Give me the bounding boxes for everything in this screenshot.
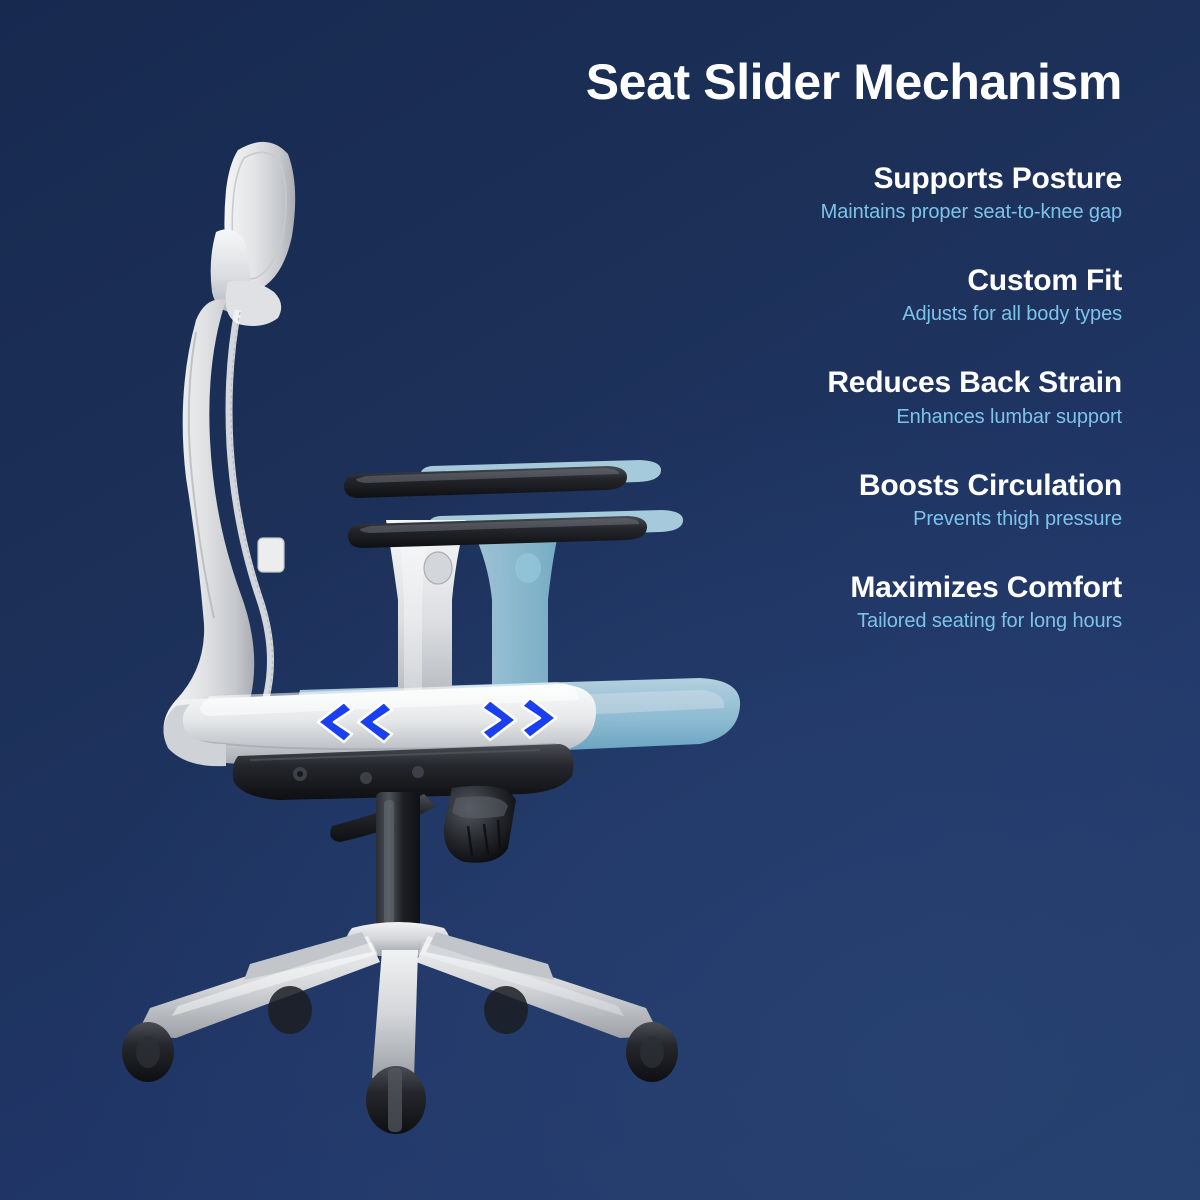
feature-item-maximizes-comfort: Maximizes Comfort Tailored seating for l… (442, 570, 1122, 634)
feature-text-panel: Seat Slider Mechanism Supports Posture M… (442, 56, 1122, 634)
feature-subtitle: Prevents thigh pressure (442, 506, 1122, 532)
feature-item-custom-fit: Custom Fit Adjusts for all body types (442, 263, 1122, 327)
feature-title: Supports Posture (442, 161, 1122, 196)
feature-title: Boosts Circulation (442, 468, 1122, 503)
infographic-canvas: Seat Slider Mechanism Supports Posture M… (0, 0, 1200, 1200)
lumbar-support[interactable] (258, 538, 284, 572)
feature-item-reduces-back-strain: Reduces Back Strain Enhances lumbar supp… (442, 365, 1122, 429)
feature-title: Custom Fit (442, 263, 1122, 298)
feature-subtitle: Maintains proper seat-to-knee gap (442, 199, 1122, 225)
feature-title: Reduces Back Strain (442, 365, 1122, 400)
headrest (211, 142, 296, 326)
gas-cylinder (376, 792, 420, 932)
backrest-frame (164, 299, 273, 755)
feature-subtitle: Adjusts for all body types (442, 301, 1122, 327)
tension-knob[interactable] (444, 786, 516, 863)
feature-subtitle: Enhances lumbar support (442, 404, 1122, 430)
page-title: Seat Slider Mechanism (442, 56, 1122, 109)
five-star-base (136, 922, 660, 1078)
feature-title: Maximizes Comfort (442, 570, 1122, 605)
feature-subtitle: Tailored seating for long hours (442, 608, 1122, 634)
feature-item-boosts-circulation: Boosts Circulation Prevents thigh pressu… (442, 468, 1122, 532)
feature-item-supports-posture: Supports Posture Maintains proper seat-t… (442, 161, 1122, 225)
